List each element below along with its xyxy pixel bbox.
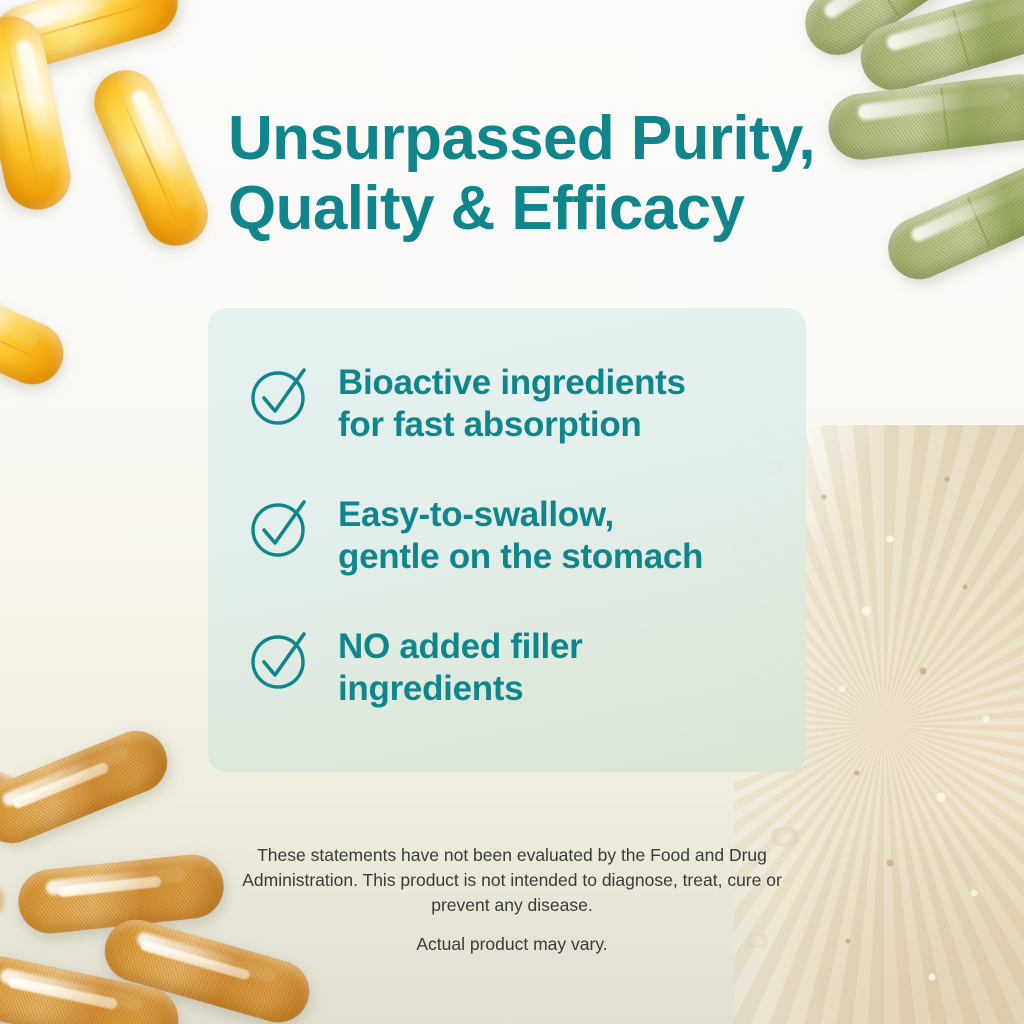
fish-oil-softgels-decoration: [0, 0, 240, 440]
benefit-item: Easy-to-swallow, gentle on the stomach: [248, 494, 703, 578]
check-circle-icon: [248, 628, 312, 692]
benefit-item: NO added filler ingredients: [248, 626, 582, 710]
benefits-card: Bioactive ingredients for fast absorptio…: [208, 308, 806, 772]
actual-product-note: Actual product may vary.: [212, 932, 812, 957]
check-circle-icon: [248, 496, 312, 560]
benefit-label: NO added filler ingredients: [338, 626, 582, 710]
check-circle-icon: [248, 364, 312, 428]
fda-disclaimer: These statements have not been evaluated…: [212, 843, 812, 918]
headline-line-1: Unsurpassed Purity,: [228, 104, 815, 173]
benefit-item: Bioactive ingredients for fast absorptio…: [248, 362, 686, 446]
page-title: Unsurpassed Purity, Quality & Efficacy: [228, 104, 828, 244]
infographic-canvas: Unsurpassed Purity, Quality & Efficacy B…: [0, 0, 1024, 1024]
benefit-label: Bioactive ingredients for fast absorptio…: [338, 362, 686, 446]
headline-line-2: Quality & Efficacy: [228, 174, 744, 243]
benefit-label: Easy-to-swallow, gentle on the stomach: [338, 494, 703, 578]
